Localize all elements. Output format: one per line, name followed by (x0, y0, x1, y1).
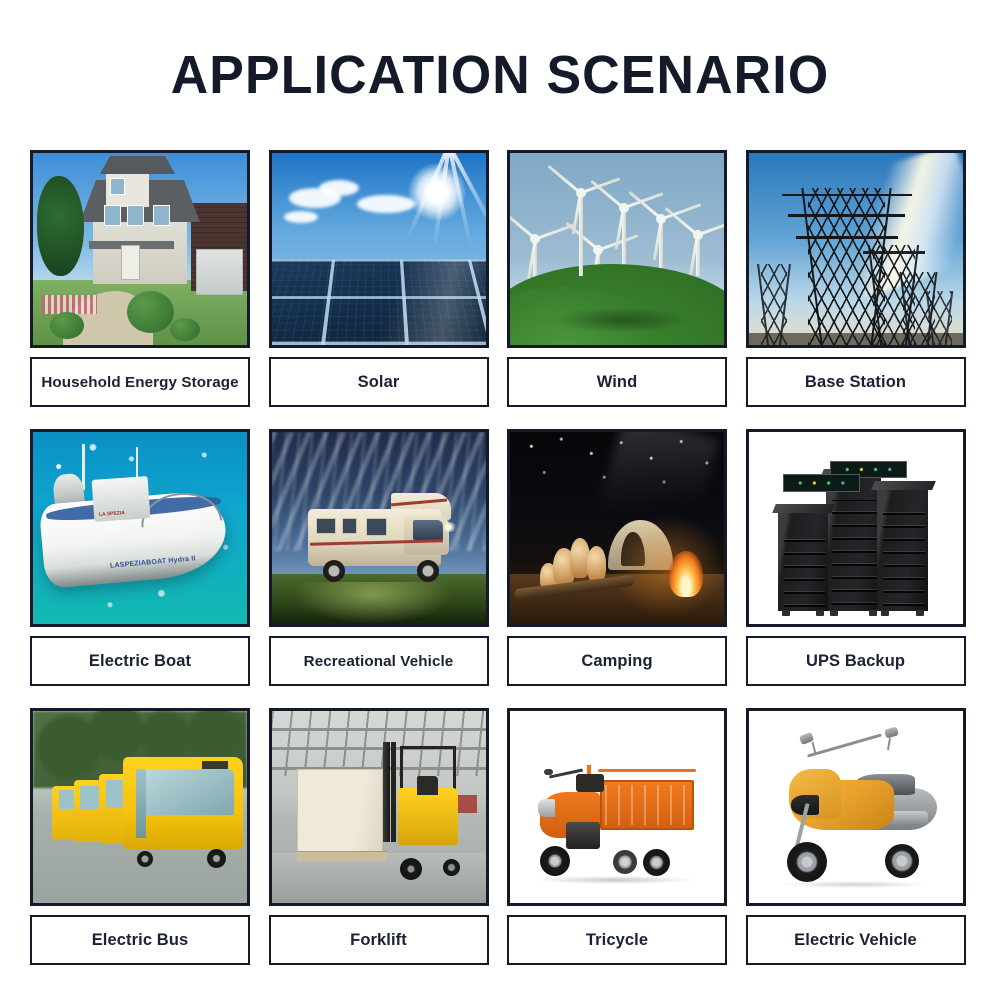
scenario-label-box: Solar (269, 357, 489, 407)
scenario-label: Forklift (350, 931, 407, 950)
scenario-label-box: Base Station (746, 357, 966, 407)
scenario-label: Household Energy Storage (41, 374, 238, 391)
scenario-cell-electric-boat[interactable]: LA SPEZIA LASPEZIABOAT Hydra II Electric… (30, 429, 250, 686)
scenario-label-box: Electric Bus (30, 915, 250, 965)
scenario-cell-base-station[interactable]: Base Station (746, 150, 966, 407)
scenario-grid: Household Energy Storage Solar (30, 150, 966, 965)
scenario-label: Electric Boat (89, 652, 191, 671)
scenario-label-box: Household Energy Storage (30, 357, 250, 407)
campfire-tent-night-photo (507, 429, 727, 627)
motor-boat-photo: LA SPEZIA LASPEZIABOAT Hydra II (30, 429, 250, 627)
scenario-label: Recreational Vehicle (304, 653, 454, 670)
wind-turbines-photo (507, 150, 727, 348)
warehouse-forklift-photo (269, 708, 489, 906)
application-scenario-page: APPLICATION SCENARIO (0, 0, 1000, 1000)
scenario-label: Camping (581, 652, 652, 671)
page-title: APPLICATION SCENARIO (20, 44, 980, 106)
scenario-label-box: Forklift (269, 915, 489, 965)
camper-van-photo (269, 429, 489, 627)
scenario-label: Tricycle (586, 931, 648, 950)
scenario-cell-wind[interactable]: Wind (507, 150, 727, 407)
scenario-cell-electric-bus[interactable]: Electric Bus (30, 708, 250, 965)
scenario-cell-solar[interactable]: Solar (269, 150, 489, 407)
scenario-label-box: Electric Vehicle (746, 915, 966, 965)
scenario-label-box: Electric Boat (30, 636, 250, 686)
scenario-label: Base Station (805, 373, 906, 392)
solar-panel-array-photo (269, 150, 489, 348)
scenario-label-box: Wind (507, 357, 727, 407)
cargo-tricycle-photo (507, 708, 727, 906)
electric-scooter-photo (746, 708, 966, 906)
scenario-label-box: Tricycle (507, 915, 727, 965)
scenario-label: Electric Bus (92, 931, 189, 950)
scenario-label: Electric Vehicle (794, 931, 917, 950)
scenario-label-box: Camping (507, 636, 727, 686)
scenario-label-box: UPS Backup (746, 636, 966, 686)
power-transmission-towers-photo (746, 150, 966, 348)
suburban-house-photo (30, 150, 250, 348)
scenario-cell-forklift[interactable]: Forklift (269, 708, 489, 965)
ups-server-cabinets-photo (746, 429, 966, 627)
scenario-cell-household-energy-storage[interactable]: Household Energy Storage (30, 150, 250, 407)
yellow-bus-fleet-photo (30, 708, 250, 906)
scenario-label: Solar (358, 373, 400, 392)
scenario-cell-electric-vehicle[interactable]: Electric Vehicle (746, 708, 966, 965)
scenario-cell-camping[interactable]: Camping (507, 429, 727, 686)
scenario-label: Wind (597, 373, 638, 392)
scenario-cell-recreational-vehicle[interactable]: Recreational Vehicle (269, 429, 489, 686)
scenario-label: UPS Backup (806, 652, 905, 671)
scenario-cell-tricycle[interactable]: Tricycle (507, 708, 727, 965)
scenario-cell-ups-backup[interactable]: UPS Backup (746, 429, 966, 686)
scenario-label-box: Recreational Vehicle (269, 636, 489, 686)
